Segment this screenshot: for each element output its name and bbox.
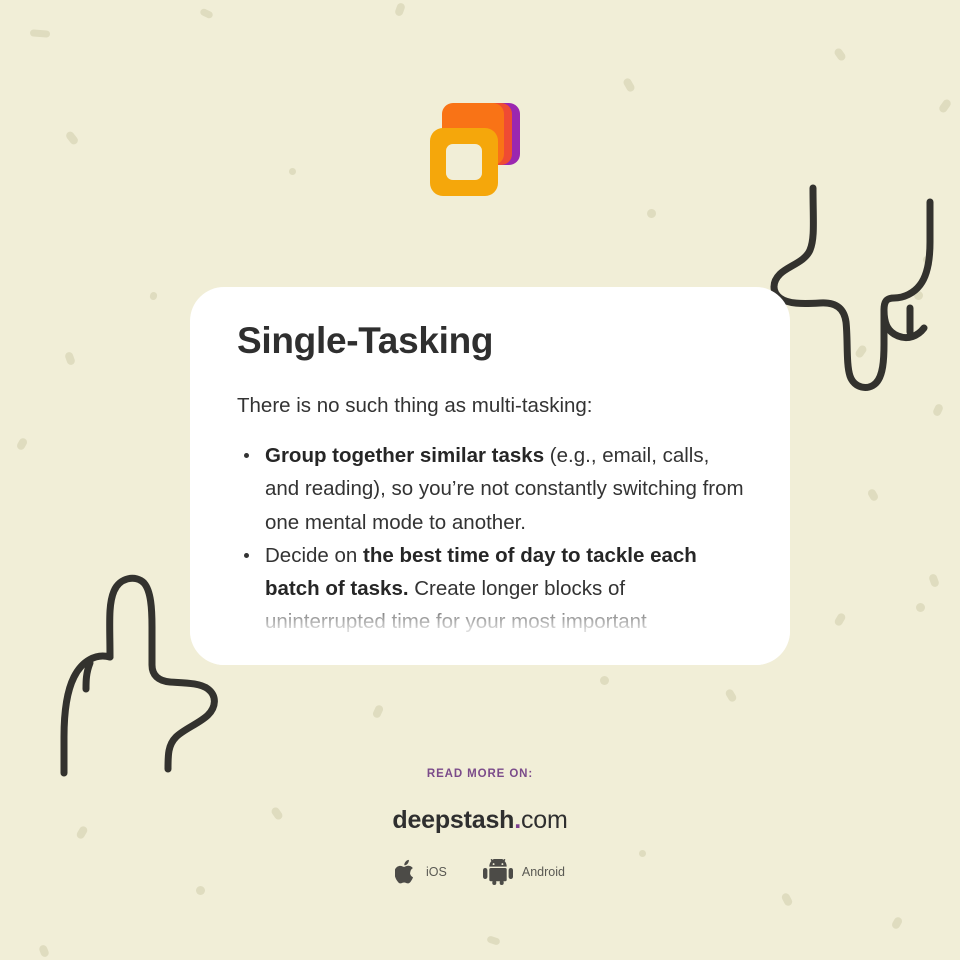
bullet-lead-text: Group together similar tasks <box>265 444 544 467</box>
background-speck <box>16 437 29 451</box>
list-item: Decide on the best time of day to tackle… <box>237 539 744 639</box>
bullet-prefix-text: Decide on <box>265 544 363 567</box>
background-speck <box>833 612 846 627</box>
android-icon <box>483 859 513 885</box>
card-subtitle: There is no such thing as multi-tasking: <box>237 392 744 420</box>
background-speck <box>30 29 50 37</box>
android-store-link[interactable]: Android <box>483 859 565 885</box>
background-speck <box>724 688 737 703</box>
background-speck <box>622 77 636 93</box>
background-speck <box>149 291 158 301</box>
background-speck <box>833 47 847 62</box>
background-speck <box>38 944 50 958</box>
list-item: Group together similar tasks (e.g., emai… <box>237 439 744 539</box>
background-speck <box>372 704 385 719</box>
logo-amber-layer <box>430 128 498 196</box>
background-speck <box>645 207 658 220</box>
ios-store-link[interactable]: iOS <box>395 859 447 885</box>
background-speck <box>932 403 944 417</box>
background-speck <box>65 130 80 146</box>
background-speck <box>891 916 904 930</box>
idea-card[interactable]: Single-Tasking There is no such thing as… <box>190 287 790 665</box>
background-speck <box>780 892 793 907</box>
read-more-label: READ MORE ON: <box>0 768 960 780</box>
background-speck <box>196 886 205 895</box>
background-speck <box>867 488 880 502</box>
footer: READ MORE ON: deepstash.com iOS <box>0 768 960 885</box>
apple-icon <box>395 859 417 885</box>
background-speck <box>938 98 953 114</box>
background-speck <box>199 8 214 20</box>
background-speck <box>394 2 406 17</box>
wordmark-tld: com <box>521 806 568 834</box>
page-title: Single-Tasking <box>237 320 744 363</box>
android-label: Android <box>522 865 565 879</box>
background-speck <box>928 573 940 588</box>
background-speck <box>600 676 609 685</box>
deepstash-wordmark[interactable]: deepstash.com <box>0 806 960 835</box>
background-speck <box>916 603 925 612</box>
wordmark-dot: . <box>514 806 521 834</box>
ios-label: iOS <box>426 865 447 879</box>
card-content: Single-Tasking There is no such thing as… <box>190 287 790 638</box>
wordmark-name: deepstash <box>392 806 514 834</box>
background-speck <box>289 168 296 175</box>
background-speck <box>64 351 76 366</box>
idea-bullet-list: Group together similar tasks (e.g., emai… <box>237 439 744 638</box>
app-store-links: iOS Android <box>0 859 960 885</box>
deepstash-logo <box>428 103 520 199</box>
background-speck <box>486 935 501 946</box>
